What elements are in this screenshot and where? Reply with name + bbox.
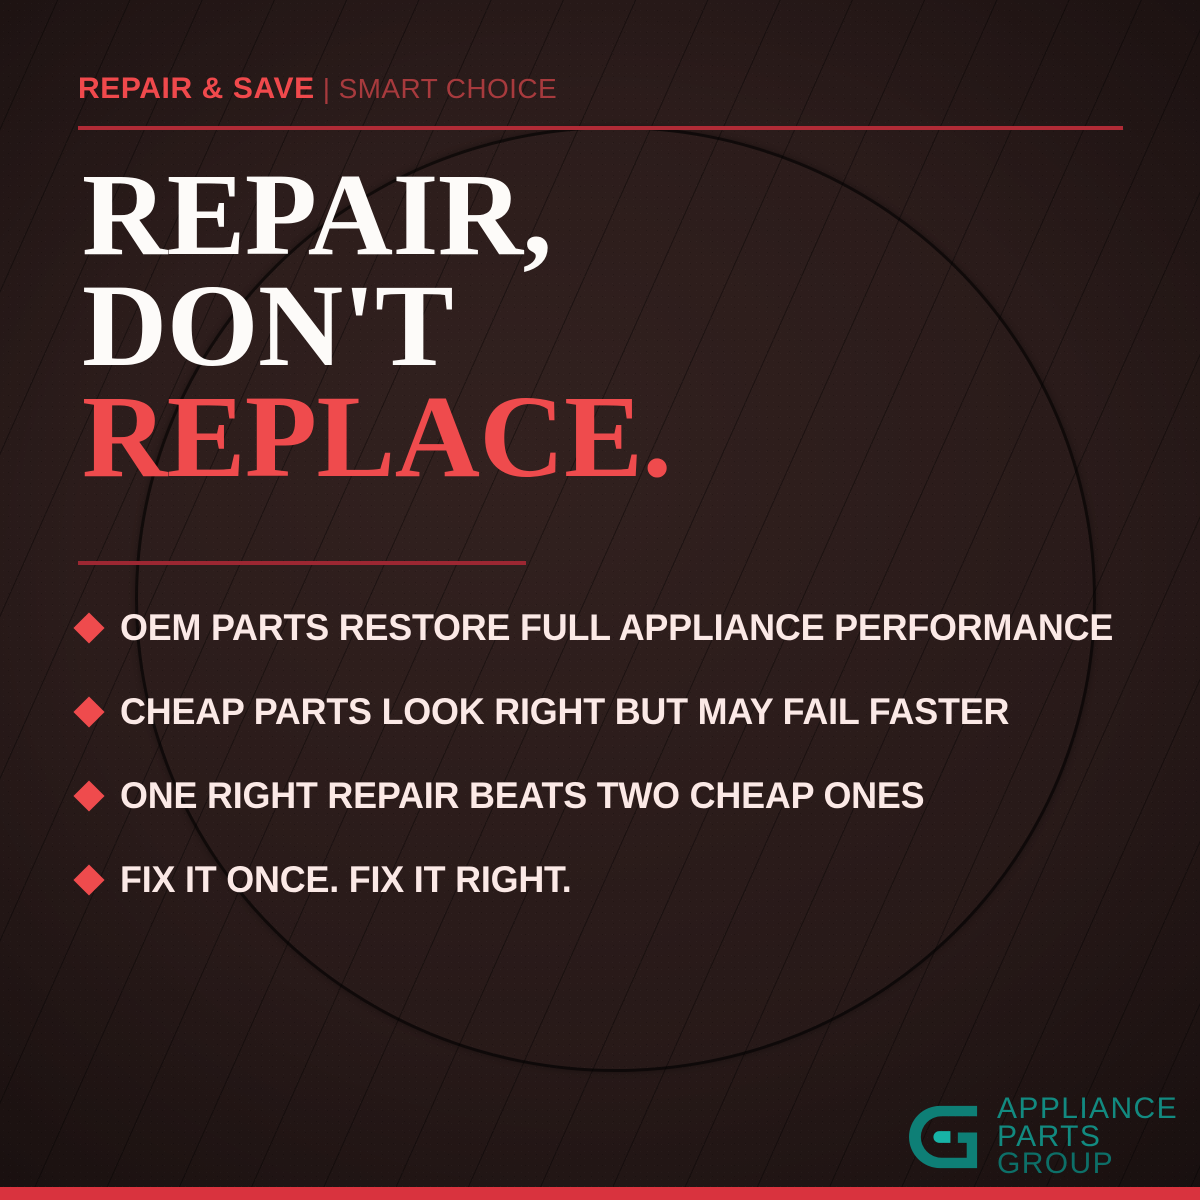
poster-content: REPAIR & SAVE| SMART CHOICE REPAIR, DON'… — [0, 0, 1200, 1200]
eyebrow-sub-label: | SMART CHOICE — [323, 73, 557, 104]
diamond-icon — [73, 864, 104, 895]
brand-logo: APPLIANCE PARTS GROUP — [909, 1095, 1178, 1178]
eyebrow-main-label: REPAIR & SAVE — [78, 72, 315, 105]
brand-logo-wordmark: APPLIANCE PARTS GROUP — [997, 1095, 1178, 1178]
list-item: ONE RIGHT REPAIR BEATS TWO CHEAP ONES — [78, 754, 1158, 838]
eyebrow: REPAIR & SAVE| SMART CHOICE — [78, 74, 557, 104]
bullet-list: OEM PARTS RESTORE FULL APPLIANCE PERFORM… — [78, 586, 1158, 922]
poster-canvas: REPAIR & SAVE| SMART CHOICE REPAIR, DON'… — [0, 0, 1200, 1200]
list-item: CHEAP PARTS LOOK RIGHT BUT MAY FAIL FAST… — [78, 670, 1158, 754]
brand-line-3: GROUP — [997, 1150, 1178, 1178]
footer-accent-bar — [0, 1187, 1200, 1200]
list-item: FIX IT ONCE. FIX IT RIGHT. — [78, 838, 1158, 922]
bullet-label: OEM PARTS RESTORE FULL APPLIANCE PERFORM… — [120, 607, 1113, 649]
bullet-label: FIX IT ONCE. FIX IT RIGHT. — [120, 859, 572, 901]
diamond-icon — [73, 780, 104, 811]
header-divider-rule — [78, 126, 1123, 130]
headline: REPAIR, DON'T REPLACE. — [82, 160, 671, 493]
headline-line-2: DON'T — [82, 271, 671, 382]
g-monogram-icon — [909, 1100, 983, 1174]
bullet-label: CHEAP PARTS LOOK RIGHT BUT MAY FAIL FAST… — [120, 691, 1009, 733]
diamond-icon — [73, 696, 104, 727]
brand-line-1: APPLIANCE — [997, 1095, 1178, 1123]
bullet-label: ONE RIGHT REPAIR BEATS TWO CHEAP ONES — [120, 775, 924, 817]
list-item: OEM PARTS RESTORE FULL APPLIANCE PERFORM… — [78, 586, 1158, 670]
brand-line-2: PARTS — [997, 1123, 1178, 1151]
headline-divider-rule — [78, 561, 526, 565]
headline-line-3-accent: REPLACE. — [82, 382, 671, 493]
diamond-icon — [73, 612, 104, 643]
headline-line-1: REPAIR, — [82, 160, 671, 271]
